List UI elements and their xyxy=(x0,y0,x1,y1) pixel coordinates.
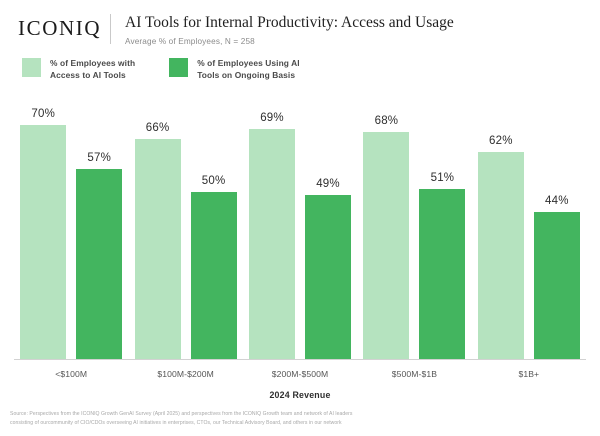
source-footnote: Source: Perspectives from the ICONIQ Gro… xyxy=(10,410,590,428)
bar-group: 69%49% xyxy=(243,92,357,359)
bar[interactable] xyxy=(478,152,524,359)
bar-column[interactable]: 69% xyxy=(249,92,295,359)
bar-value-label: 50% xyxy=(202,175,226,187)
chart-legend: % of Employees with Access to AI Tools %… xyxy=(0,58,600,92)
bar-column[interactable]: 57% xyxy=(76,92,122,359)
bar-column[interactable]: 51% xyxy=(419,92,465,359)
legend-swatch-icon xyxy=(22,58,41,77)
x-axis-tick-label: $200M-$500M xyxy=(243,369,357,379)
bar-column[interactable]: 62% xyxy=(478,92,524,359)
chart-subtitle: Average % of Employees, N = 258 xyxy=(125,37,454,46)
legend-item-label: % of Employees with Access to AI Tools xyxy=(50,58,135,81)
bar-value-label: 44% xyxy=(545,195,569,207)
bar[interactable] xyxy=(305,195,351,359)
x-axis-line xyxy=(14,359,586,360)
bar-group: 62%44% xyxy=(472,92,586,359)
bar-value-label: 66% xyxy=(146,122,170,134)
legend-item-label: % of Employees Using AI Tools on Ongoing… xyxy=(197,58,300,81)
x-axis-ticks: <$100M$100M-$200M$200M-$500M$500M-$1B$1B… xyxy=(14,360,586,379)
page-title: AI Tools for Internal Productivity: Acce… xyxy=(125,14,454,32)
legend-item: % of Employees with Access to AI Tools xyxy=(22,58,135,81)
title-block: AI Tools for Internal Productivity: Acce… xyxy=(125,14,454,46)
footnote-line-1: Source: Perspectives from the ICONIQ Gro… xyxy=(10,410,590,419)
legend-swatch-icon xyxy=(169,58,188,77)
bar[interactable] xyxy=(419,189,465,359)
legend-item: % of Employees Using AI Tools on Ongoing… xyxy=(169,58,300,81)
bar-value-label: 68% xyxy=(375,115,399,127)
x-axis-tick-label: $500M-$1B xyxy=(357,369,471,379)
bar-group: 66%50% xyxy=(128,92,242,359)
bar[interactable] xyxy=(363,132,409,359)
bar-value-label: 51% xyxy=(431,172,455,184)
bar[interactable] xyxy=(249,129,295,359)
header-divider xyxy=(110,14,111,44)
chart-header: ICONIQ AI Tools for Internal Productivit… xyxy=(0,0,600,44)
bar[interactable] xyxy=(191,192,237,359)
bar[interactable] xyxy=(534,212,580,359)
bar-group: 68%51% xyxy=(357,92,471,359)
bar[interactable] xyxy=(20,125,66,359)
bar-column[interactable]: 68% xyxy=(363,92,409,359)
x-axis-title: 2024 Revenue xyxy=(0,390,600,400)
x-axis-tick-label: $1B+ xyxy=(472,369,586,379)
bar-column[interactable]: 70% xyxy=(20,92,66,359)
footnote-line-2: consisting of ourcommunity of CIO/CDOs o… xyxy=(10,419,590,428)
bar[interactable] xyxy=(135,139,181,359)
x-axis-tick-label: <$100M xyxy=(14,369,128,379)
bar-value-label: 69% xyxy=(260,112,284,124)
bar-group: 70%57% xyxy=(14,92,128,359)
bar-value-label: 49% xyxy=(316,178,340,190)
plot-area: 70%57%66%50%69%49%68%51%62%44% xyxy=(14,92,586,360)
iconiq-logo: ICONIQ xyxy=(18,14,110,39)
bar[interactable] xyxy=(76,169,122,359)
x-axis-tick-label: $100M-$200M xyxy=(128,369,242,379)
bar-column[interactable]: 49% xyxy=(305,92,351,359)
bar-value-label: 70% xyxy=(31,108,55,120)
bar-groups: 70%57%66%50%69%49%68%51%62%44% xyxy=(14,92,586,359)
bar-column[interactable]: 44% xyxy=(534,92,580,359)
bar-column[interactable]: 66% xyxy=(135,92,181,359)
bar-column[interactable]: 50% xyxy=(191,92,237,359)
bar-value-label: 62% xyxy=(489,135,513,147)
bar-value-label: 57% xyxy=(87,152,111,164)
